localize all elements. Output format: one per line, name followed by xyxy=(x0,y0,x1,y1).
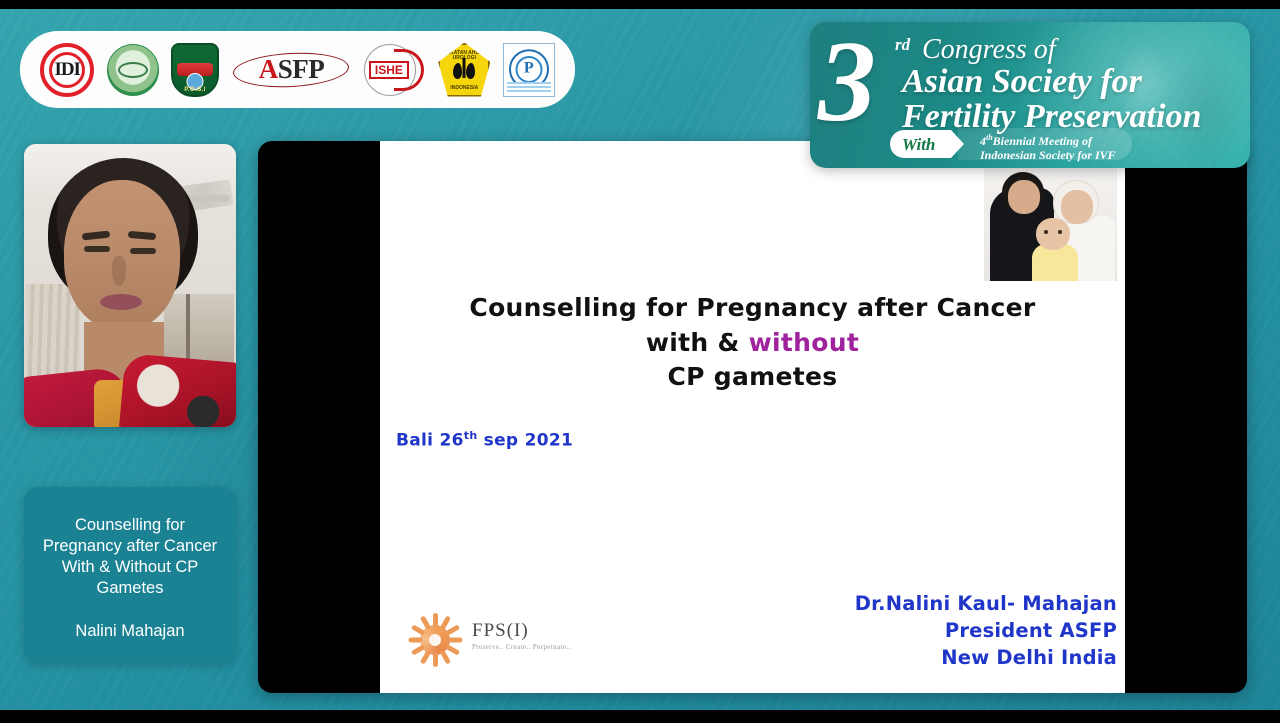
fpsi-sun-icon xyxy=(406,611,464,669)
idi-logo-label: IDI xyxy=(44,47,90,93)
perfitri-logo-icon xyxy=(107,44,159,96)
banner-numeral: 3 xyxy=(818,24,876,140)
photo-woman-face xyxy=(1061,190,1093,224)
banner-sub-line-1: Biennial Meeting of xyxy=(993,134,1092,148)
slide-title-line-3: CP gametes xyxy=(380,360,1125,395)
speaker-garment-right xyxy=(119,353,236,427)
family-with-baby-photo xyxy=(984,166,1117,281)
ishe-logo-icon: ISHE xyxy=(364,43,426,97)
fpsi-tagline: Preserve.. Create.. Perpetuate.. xyxy=(472,644,571,651)
banner-line-1: Congress of xyxy=(922,36,1056,64)
top-letterbox-bar xyxy=(0,0,1280,9)
asfp-letter-a: A xyxy=(259,54,278,84)
banner-sub-meeting: 4thBiennial Meeting of Indonesian Societ… xyxy=(958,128,1132,160)
slide-date-main: Bali 26 xyxy=(396,431,464,451)
slide-title-highlight: without xyxy=(749,328,859,357)
banner-sub-sup-ord: th xyxy=(986,133,993,142)
urology-kidney-glyph xyxy=(453,63,475,83)
banner-ordinal: rd xyxy=(895,36,910,53)
partner-societies-logo-strip: IDI P.O.G.I ASFP ISHE IKATAN AHLI UROLOG… xyxy=(20,31,575,108)
screen-capture-stage: IDI P.O.G.I ASFP ISHE IKATAN AHLI UROLOG… xyxy=(0,0,1280,723)
fpsi-text-block: FPS(I) Preserve.. Create.. Perpetuate.. xyxy=(472,621,571,651)
slide-title: Counselling for Pregnancy after Cancer w… xyxy=(380,291,1125,395)
speaker-nose xyxy=(112,256,126,286)
slide-date: Bali 26th sep 2021 xyxy=(396,429,573,451)
banner-sub-line-2: Indonesian Society for IVF xyxy=(980,148,1116,162)
speaker-lips xyxy=(100,294,142,310)
photo-man-face xyxy=(1008,180,1040,214)
fpsi-sun-core xyxy=(420,625,450,655)
congress-banner: 3 rd Congress of Asian Society for Ferti… xyxy=(810,22,1250,168)
session-caption-card: Counselling for Pregnancy after Cancer W… xyxy=(24,487,236,663)
slide-title-line-2: with & without xyxy=(380,326,1125,361)
photo-baby-head xyxy=(1036,218,1070,250)
speaker-eye-left xyxy=(84,246,110,252)
pogi-logo-label: P.O.G.I xyxy=(173,87,217,93)
credits-line-1: Dr.Nalini Kaul- Mahajan xyxy=(855,590,1117,617)
asfp-logo-icon: ASFP xyxy=(231,43,351,97)
speaker-video-tile[interactable] xyxy=(24,144,236,427)
banner-with-badge: With xyxy=(890,130,951,158)
bottom-letterbox-bar xyxy=(0,710,1280,723)
idi-logo-icon: IDI xyxy=(40,43,94,97)
credits-line-3: New Delhi India xyxy=(855,644,1117,671)
persagi-base-stripes xyxy=(507,82,551,93)
credits-line-2: President ASFP xyxy=(855,617,1117,644)
urology-logo-bottom-label: INDONESIA xyxy=(440,86,488,91)
slide-title-line-2-pre: with & xyxy=(646,328,749,357)
slide-date-ordinal: th xyxy=(464,429,478,442)
persagi-logo-icon: P xyxy=(503,43,555,97)
slide-viewer[interactable]: Counselling for Pregnancy after Cancer w… xyxy=(258,141,1247,693)
banner-line-2: Asian Society for xyxy=(902,65,1142,99)
photo-baby-eye-right xyxy=(1058,230,1062,234)
caption-speaker-name: Nalini Mahajan xyxy=(34,622,226,641)
caption-title: Counselling for Pregnancy after Cancer W… xyxy=(34,515,226,599)
persagi-logo-label: P xyxy=(524,60,534,76)
slide-title-line-1: Counselling for Pregnancy after Cancer xyxy=(380,291,1125,326)
asfp-wordmark: ASFP xyxy=(259,56,325,83)
pogi-logo-icon: P.O.G.I xyxy=(171,43,219,97)
urology-indonesia-logo-icon: IKATAN AHLI UROLOGI INDONESIA xyxy=(438,43,490,97)
slide-credits: Dr.Nalini Kaul- Mahajan President ASFP N… xyxy=(855,590,1117,671)
presentation-slide: Counselling for Pregnancy after Cancer w… xyxy=(380,141,1125,693)
asfp-letters-sfp: SFP xyxy=(278,54,325,84)
photo-baby-eye-left xyxy=(1044,230,1048,234)
slide-date-rest: sep 2021 xyxy=(477,431,573,451)
fpsi-logo: FPS(I) Preserve.. Create.. Perpetuate.. xyxy=(402,609,587,675)
ishe-logo-label: ISHE xyxy=(369,61,409,79)
speaker-eye-right xyxy=(130,248,156,254)
fpsi-name: FPS(I) xyxy=(472,621,571,640)
